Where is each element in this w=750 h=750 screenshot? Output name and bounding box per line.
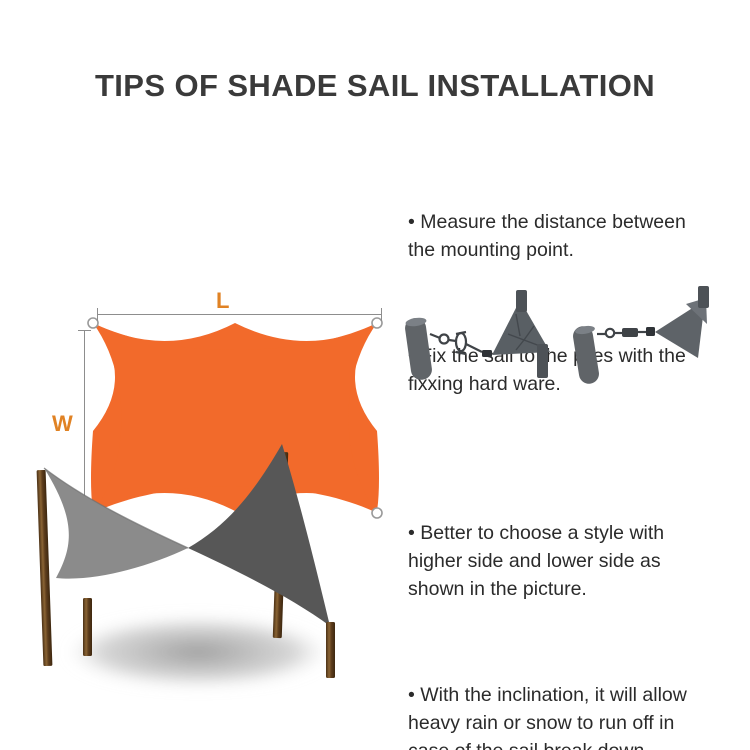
mounting-pile-icon (404, 317, 433, 382)
infographic-poster: TIPS OF SHADE SAIL INSTALLATION L W (0, 0, 750, 750)
ground-shadow (70, 618, 326, 686)
sail-panel-dark (188, 444, 330, 626)
turnbuckle-hardware-icon (430, 332, 482, 354)
shackle-icon (482, 350, 492, 357)
rectangular-sail-diagram: L W (0, 140, 400, 400)
hardware-assembly-left-illustration (404, 282, 569, 387)
post-back-left (83, 598, 92, 656)
length-dimension-tick-right (381, 308, 382, 321)
width-dimension-tick-top (78, 330, 91, 331)
hardware-assembly-right-illustration (566, 282, 750, 387)
post-front-left (37, 470, 53, 666)
tip-choose-high-low-style: • Better to choose a style with higher s… (408, 519, 750, 603)
tip-inclination-runoff: • With the inclination, it will allow he… (408, 681, 750, 750)
shackle-icon (646, 327, 655, 336)
length-dimension-tick-left (97, 308, 98, 321)
page-title: TIPS OF SHADE SAIL INSTALLATION (0, 68, 750, 104)
post-lower-icon (537, 344, 548, 378)
shade-sail-scene (0, 430, 405, 730)
length-dimension-line (97, 314, 381, 315)
length-label: L (216, 288, 229, 314)
sail-panel-light (44, 468, 188, 579)
post-upper-icon (698, 286, 709, 308)
installation-scene-diagram: HIGH LOW (0, 430, 405, 730)
post-upper-icon (516, 290, 527, 312)
post-front-right (326, 622, 335, 678)
mounting-pile-icon (572, 325, 601, 386)
turnbuckle-hardware-icon (597, 328, 646, 337)
tip-measure-distance: • Measure the distance between the mount… (408, 208, 750, 264)
tips-list-bottom: • Better to choose a style with higher s… (408, 463, 750, 750)
